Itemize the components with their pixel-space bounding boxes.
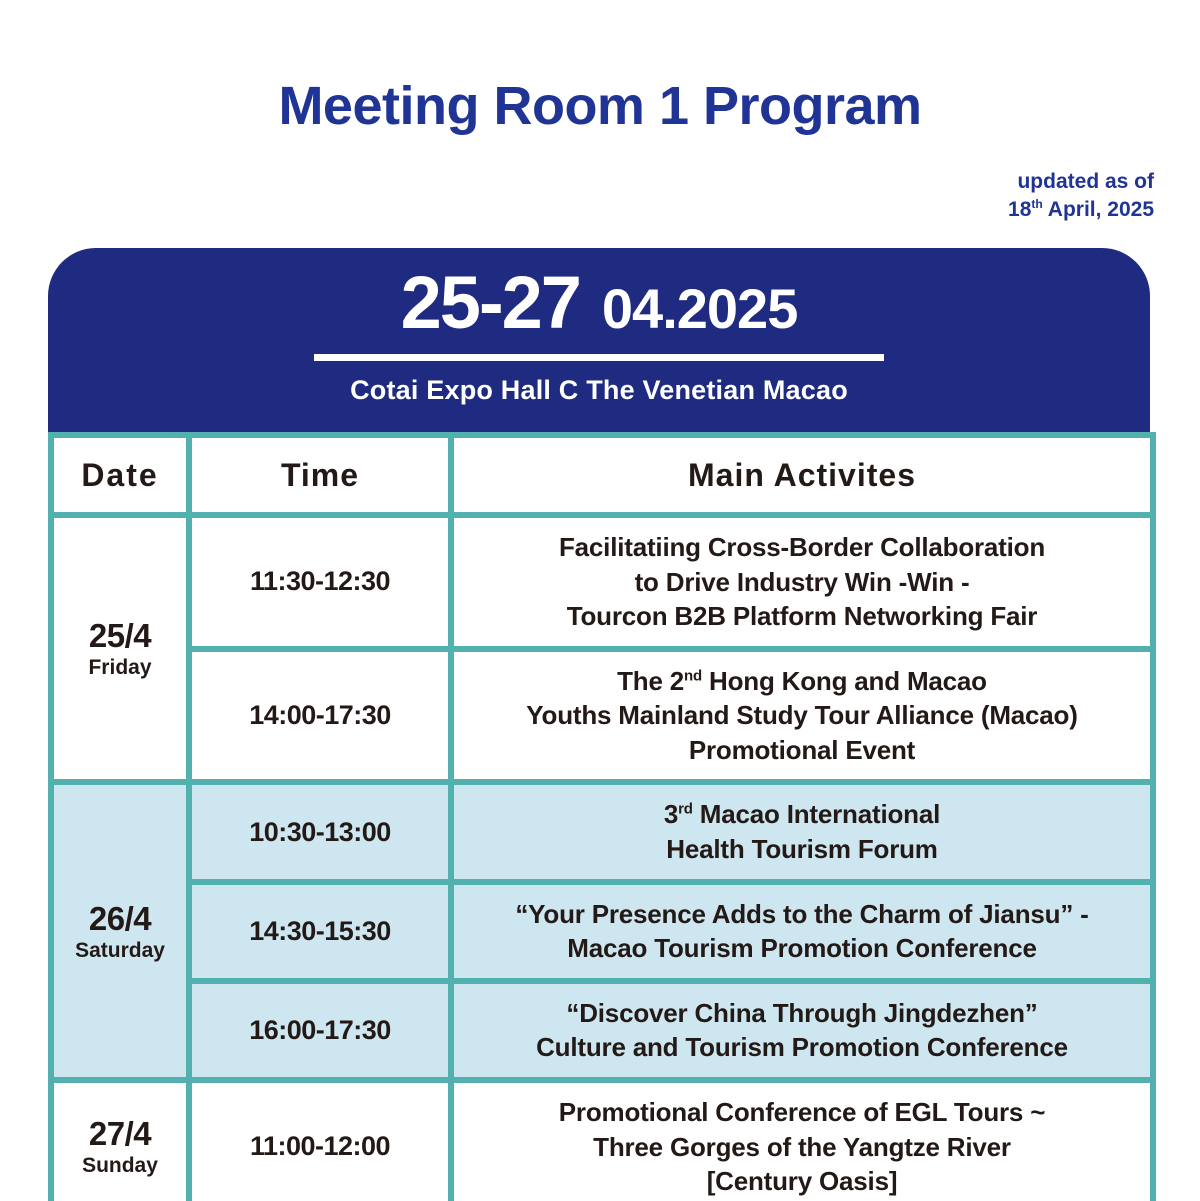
updated-ordinal: th [1031, 197, 1042, 211]
table-row: 26/4 Saturday 10:30-13:00 3rd Macao Inte… [51, 782, 1153, 881]
activity-line: “Your Presence Adds to the Charm of Jian… [462, 897, 1142, 932]
table-row: 14:00-17:30 The 2nd Hong Kong and Macao … [51, 649, 1153, 783]
date-cell-sunday: 27/4 Sunday [51, 1080, 189, 1201]
ordinal-suffix: rd [678, 801, 693, 818]
activity-line: Three Gorges of the Yangtze River [462, 1130, 1142, 1165]
activity-line: [Century Oasis] [462, 1164, 1142, 1199]
schedule-table: Date Time Main Activites 25/4 Friday 11:… [48, 432, 1156, 1201]
ordinal-suffix: nd [684, 667, 702, 684]
activity-line: The 2nd Hong Kong and Macao [462, 664, 1142, 699]
time-cell: 11:00-12:00 [189, 1080, 451, 1201]
event-banner: 25-27 04.2025 Cotai Expo Hall C The Vene… [48, 248, 1150, 432]
banner-venue: Cotai Expo Hall C The Venetian Macao [48, 375, 1150, 406]
banner-date-range: 25-27 [401, 266, 580, 340]
title-block: Meeting Room 1 Program [0, 78, 1200, 135]
updated-day: 18 [1008, 198, 1031, 221]
activity-text: 3 [664, 799, 678, 829]
banner-year-month: 04.2025 [602, 281, 797, 337]
date-weekday: Friday [56, 656, 184, 679]
activity-line: Health Tourism Forum [462, 832, 1142, 867]
activity-cell: 3rd Macao International Health Tourism F… [451, 782, 1153, 881]
table-row: 16:00-17:30 “Discover China Through Jing… [51, 981, 1153, 1080]
table-row: 27/4 Sunday 11:00-12:00 Promotional Conf… [51, 1080, 1153, 1201]
banner-date-line: 25-27 04.2025 [48, 248, 1150, 340]
activity-line: Facilitatiing Cross-Border Collaboration [462, 530, 1142, 565]
column-header-activities: Main Activites [451, 435, 1153, 515]
activity-cell: The 2nd Hong Kong and Macao Youths Mainl… [451, 649, 1153, 783]
activity-line: “Discover China Through Jingdezhen” [462, 996, 1142, 1031]
banner-divider [314, 354, 884, 361]
date-cell-friday: 25/4 Friday [51, 515, 189, 782]
date-cell-saturday: 26/4 Saturday [51, 782, 189, 1079]
activity-line: Promotional Conference of EGL Tours ~ [462, 1095, 1142, 1130]
column-header-time: Time [189, 435, 451, 515]
updated-rest: April, 2025 [1043, 198, 1154, 221]
updated-label: updated as of [1008, 168, 1154, 196]
date-number: 27/4 [56, 1116, 184, 1152]
page-title: Meeting Room 1 Program [0, 78, 1200, 135]
activity-line: Tourcon B2B Platform Networking Fair [462, 599, 1142, 634]
activity-cell: Promotional Conference of EGL Tours ~ Th… [451, 1080, 1153, 1201]
activity-cell: “Discover China Through Jingdezhen” Cult… [451, 981, 1153, 1080]
activity-text: Macao International [693, 799, 940, 829]
activity-text: Hong Kong and Macao [702, 666, 987, 696]
updated-notice: updated as of 18th April, 2025 [1008, 168, 1154, 225]
activity-text: The 2 [617, 666, 684, 696]
activity-line: Culture and Tourism Promotion Conference [462, 1030, 1142, 1065]
table-header-row: Date Time Main Activites [51, 435, 1153, 515]
updated-date: 18th April, 2025 [1008, 196, 1154, 224]
time-cell: 14:00-17:30 [189, 649, 451, 783]
activity-cell: “Your Presence Adds to the Charm of Jian… [451, 882, 1153, 981]
column-header-date: Date [51, 435, 189, 515]
activity-line: Macao Tourism Promotion Conference [462, 931, 1142, 966]
time-cell: 14:30-15:30 [189, 882, 451, 981]
activity-line: Youths Mainland Study Tour Alliance (Mac… [462, 698, 1142, 733]
activity-cell: Facilitatiing Cross-Border Collaboration… [451, 515, 1153, 649]
activity-line: to Drive Industry Win -Win - [462, 565, 1142, 600]
date-number: 25/4 [56, 618, 184, 654]
time-cell: 16:00-17:30 [189, 981, 451, 1080]
table-row: 25/4 Friday 11:30-12:30 Facilitatiing Cr… [51, 515, 1153, 649]
time-cell: 10:30-13:00 [189, 782, 451, 881]
program-poster: Meeting Room 1 Program updated as of 18t… [0, 0, 1200, 1201]
date-weekday: Sunday [56, 1154, 184, 1177]
activity-line: 3rd Macao International [462, 797, 1142, 832]
time-cell: 11:30-12:30 [189, 515, 451, 649]
date-number: 26/4 [56, 901, 184, 937]
date-weekday: Saturday [56, 939, 184, 962]
table-row: 14:30-15:30 “Your Presence Adds to the C… [51, 882, 1153, 981]
activity-line: Promotional Event [462, 733, 1142, 768]
